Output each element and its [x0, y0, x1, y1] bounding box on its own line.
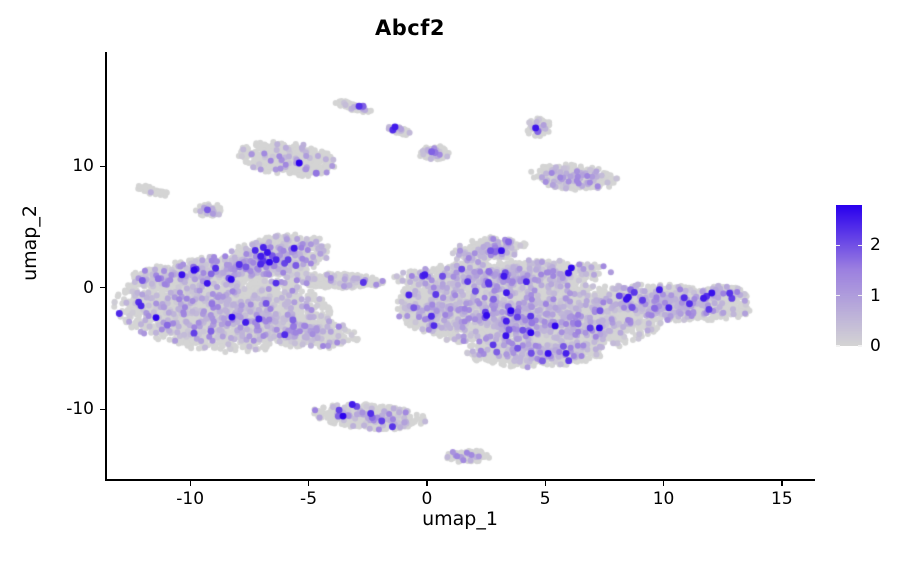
x-tick-label: 0: [421, 489, 432, 509]
plot-axes: -10-5051015 -10010: [105, 52, 815, 481]
y-tick-label: 10: [72, 156, 94, 176]
x-tick-mark: [190, 481, 191, 486]
x-axis-label: umap_1: [105, 508, 815, 530]
page-title: Abcf2: [0, 16, 820, 40]
y-tick-label: -10: [66, 399, 94, 419]
colorbar-tick-label: 1: [870, 286, 881, 306]
y-tick-mark: [100, 409, 105, 410]
x-tick-label: -10: [176, 489, 204, 509]
x-tick-label: 10: [653, 489, 675, 509]
x-tick-mark: [426, 481, 427, 486]
colorbar-tick-mark: [836, 295, 840, 297]
y-axis-spine: [105, 52, 107, 481]
y-axis-label: umap_2: [19, 153, 41, 333]
umap-feature-plot: Abcf2 -10-5051015 -10010 umap_1 umap_2 0…: [0, 0, 911, 562]
x-tick-label: 5: [540, 489, 551, 509]
x-tick-label: 15: [771, 489, 793, 509]
x-tick-mark: [781, 481, 782, 486]
colorbar-tick-mark: [836, 345, 840, 347]
y-tick-mark: [100, 166, 105, 167]
colorbar-tick-mark: [858, 295, 862, 297]
colorbar-gradient: [836, 205, 862, 346]
x-tick-mark: [663, 481, 664, 486]
y-tick-mark: [100, 287, 105, 288]
colorbar-tick-label: 0: [870, 336, 881, 356]
colorbar: 012: [836, 205, 862, 346]
scatter-point-cloud: [105, 52, 815, 481]
x-tick-label: -5: [300, 489, 317, 509]
colorbar-tick-mark: [858, 345, 862, 347]
x-tick-mark: [308, 481, 309, 486]
colorbar-tick-mark: [858, 245, 862, 247]
y-tick-label: 0: [83, 278, 94, 298]
x-axis-spine: [105, 479, 815, 481]
x-tick-mark: [545, 481, 546, 486]
colorbar-tick-mark: [836, 245, 840, 247]
colorbar-tick-label: 2: [870, 235, 881, 255]
